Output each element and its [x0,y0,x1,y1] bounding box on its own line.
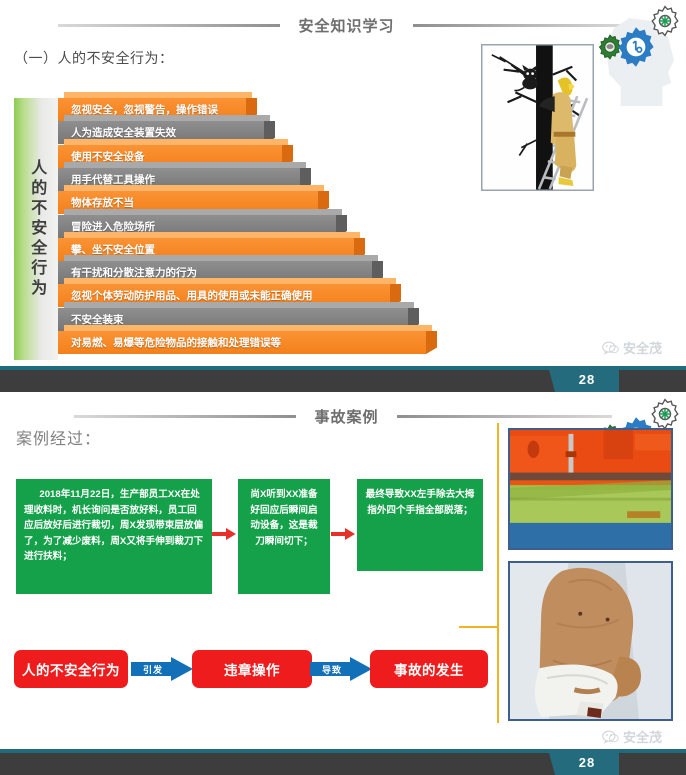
flow-box-1-label: 人的不安全行为 [22,659,120,679]
slide-accident-case: 事故案例 案例经过： [0,395,686,775]
case-step-3: 最终导致XX左手除去大拇指外四个手指全部脱落； [357,479,483,571]
causal-flow: 人的不安全行为 引发 违章操作 导致 事故的发生 [0,650,500,694]
wechat-icon-2 [602,730,619,744]
flow-box-3-label: 事故的发生 [394,659,464,679]
page-number-top: 28 [579,372,595,387]
flow-box-violation: 违章操作 [192,650,312,688]
flow-box-2-label: 违章操作 [224,659,280,679]
case-step-3-text: 最终导致XX左手除去大拇指外四个手指全部脱落； [365,487,475,518]
slide-top-header: 安全知识学习 [0,12,686,38]
slide-top-footer: 28 [0,366,686,392]
watermark-text-bottom: 安全茂 [623,727,662,746]
arrow-head [226,528,236,540]
flow-arrow-cause: 导致 [310,657,372,681]
watermark-top: 安全茂 [602,338,662,357]
header-rule-left-2 [74,415,296,418]
staircase-bars: 忽视安全，忽视警告，操作错误人为造成安全装置失效使用不安全设备用手代替工具操作物… [58,98,454,360]
staircase-axis-label-text: 人的不安全行为 [27,159,45,299]
divider-horizontal-yellow [459,626,499,628]
flow-arrow-2-tip [350,657,372,681]
unsafe-behaviour-staircase: 人的不安全行为 忽视安全，忽视警告，操作错误人为造成安全装置失效使用不安全设备用… [14,98,454,360]
staircase-bar-label: 对易燃、易爆等危险物品的接触和处理错误等 [71,335,281,350]
case-arrow-2-icon [331,528,355,540]
page-title-2: 事故案例 [314,406,378,427]
arrow-head [345,528,355,540]
case-step-1: 2018年11月22日，生产部员工XX在处理收料时，机长询问是否放好料，员工回应… [16,479,212,594]
flow-arrow-1-label: 引发 [143,663,163,676]
slide-safety-knowledge: 安全知识学习 [0,0,686,395]
case-step-2-text: 尚X听到XX准备好回应后瞬间启动设备，这是裁刀瞬间切下； [246,487,322,549]
wechat-icon [602,341,619,355]
case-step-2: 尚X听到XX准备好回应后瞬间启动设备，这是裁刀瞬间切下； [238,479,330,594]
staircase-bar: 对易燃、易爆等危险物品的接触和处理错误等 [58,331,426,354]
slide-bottom-footer: 28 [0,749,686,775]
flow-box-accident: 事故的发生 [370,650,488,688]
page-badge-bottom: 28 [555,749,619,775]
staircase-bar-face: 对易燃、易爆等危险物品的接触和处理错误等 [58,331,426,354]
section-subtitle: （一）人的不安全行为： [14,48,174,68]
flow-arrow-trigger: 引发 [131,657,193,681]
page-number-bottom: 28 [579,755,595,770]
flow-arrow-1-body: 引发 [131,662,175,676]
watermark-bottom: 安全茂 [602,727,662,746]
cutting-machine-photo [508,428,673,550]
watermark-text-top: 安全茂 [623,338,662,357]
staircase-bar-side [426,331,437,354]
case-step-1-text: 2018年11月22日，生产部员工XX在处理收料时，机长询问是否放好料，员工回应… [24,487,204,565]
header-rule-right-2 [397,415,612,418]
injured-hand-photo [508,561,673,721]
page-title: 安全知识学习 [298,15,394,36]
case-section-title: 案例经过： [16,425,101,449]
case-arrow-1-icon [212,528,236,540]
staircase-axis-label: 人的不安全行为 [14,98,58,360]
flow-arrow-1-tip [171,657,193,681]
header-rule-right [413,24,628,27]
flow-box-unsafe-behaviour: 人的不安全行为 [14,650,128,688]
worker-ladder-tree-illustration [481,44,594,191]
flow-arrow-2-body: 导致 [310,662,354,676]
header-rule-left [58,24,280,27]
page-badge-top: 28 [555,366,619,392]
slide-bottom-header: 事故案例 [0,403,686,429]
flow-arrow-2-label: 导致 [322,663,342,676]
